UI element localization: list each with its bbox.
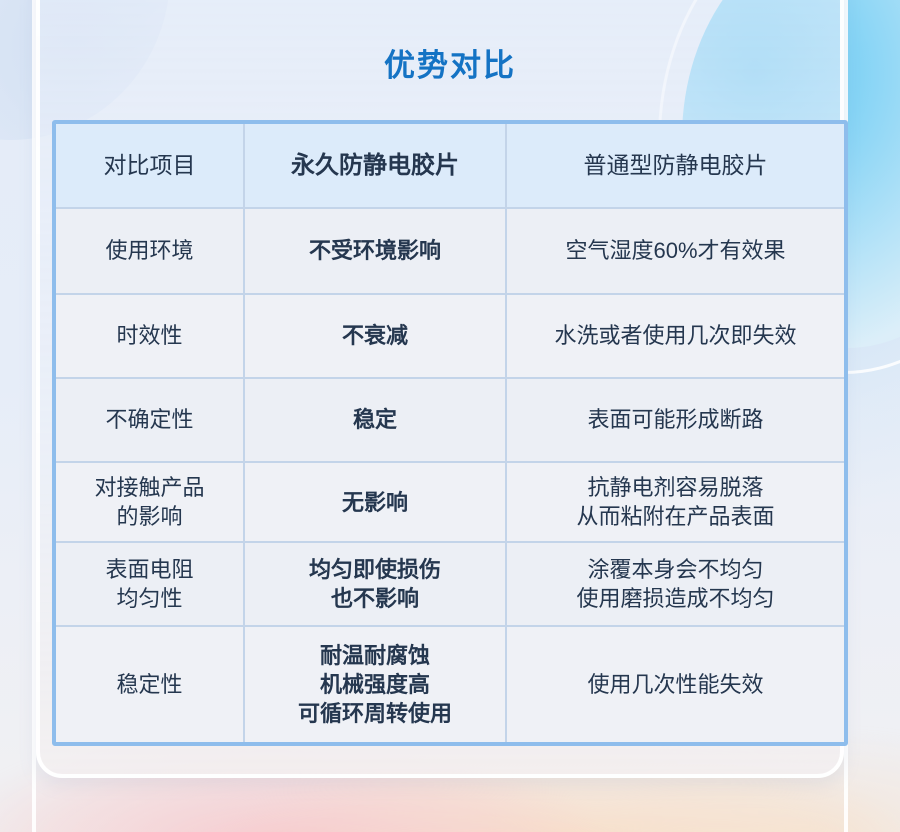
row-ordinary-value: 抗静电剂容易脱落 从而粘附在产品表面: [506, 462, 844, 542]
row-item-label: 时效性: [56, 294, 244, 378]
column-header-permanent: 永久防静电胶片: [244, 124, 506, 208]
table-row: 时效性 不衰减 水洗或者使用几次即失效: [56, 294, 844, 378]
row-permanent-value: 不衰减: [244, 294, 506, 378]
row-ordinary-value: 表面可能形成断路: [506, 378, 844, 462]
column-header-item: 对比项目: [56, 124, 244, 208]
row-item-label: 使用环境: [56, 208, 244, 294]
page-title: 优势对比: [0, 40, 900, 85]
row-ordinary-value: 水洗或者使用几次即失效: [506, 294, 844, 378]
table-row: 对接触产品 的影响 无影响 抗静电剂容易脱落 从而粘附在产品表面: [56, 462, 844, 542]
row-item-label: 对接触产品 的影响: [56, 462, 244, 542]
row-item-label: 不确定性: [56, 378, 244, 462]
comparison-table: 对比项目 永久防静电胶片 普通型防静电胶片 使用环境 不受环境影响 空气湿度60…: [56, 124, 844, 742]
row-ordinary-value: 使用几次性能失效: [506, 626, 844, 742]
table-row: 稳定性 耐温耐腐蚀 机械强度高 可循环周转使用 使用几次性能失效: [56, 626, 844, 742]
row-permanent-value: 稳定: [244, 378, 506, 462]
comparison-table-container: 对比项目 永久防静电胶片 普通型防静电胶片 使用环境 不受环境影响 空气湿度60…: [52, 120, 848, 746]
table-row: 使用环境 不受环境影响 空气湿度60%才有效果: [56, 208, 844, 294]
row-permanent-value: 无影响: [244, 462, 506, 542]
row-permanent-value: 不受环境影响: [244, 208, 506, 294]
table-row: 不确定性 稳定 表面可能形成断路: [56, 378, 844, 462]
table-header-row: 对比项目 永久防静电胶片 普通型防静电胶片: [56, 124, 844, 208]
row-item-label: 稳定性: [56, 626, 244, 742]
column-header-ordinary: 普通型防静电胶片: [506, 124, 844, 208]
table-row: 表面电阻 均匀性 均匀即使损伤 也不影响 涂覆本身会不均匀 使用磨损造成不均匀: [56, 542, 844, 626]
row-permanent-value: 耐温耐腐蚀 机械强度高 可循环周转使用: [244, 626, 506, 742]
row-ordinary-value: 涂覆本身会不均匀 使用磨损造成不均匀: [506, 542, 844, 626]
row-item-label: 表面电阻 均匀性: [56, 542, 244, 626]
row-ordinary-value: 空气湿度60%才有效果: [506, 208, 844, 294]
row-permanent-value: 均匀即使损伤 也不影响: [244, 542, 506, 626]
